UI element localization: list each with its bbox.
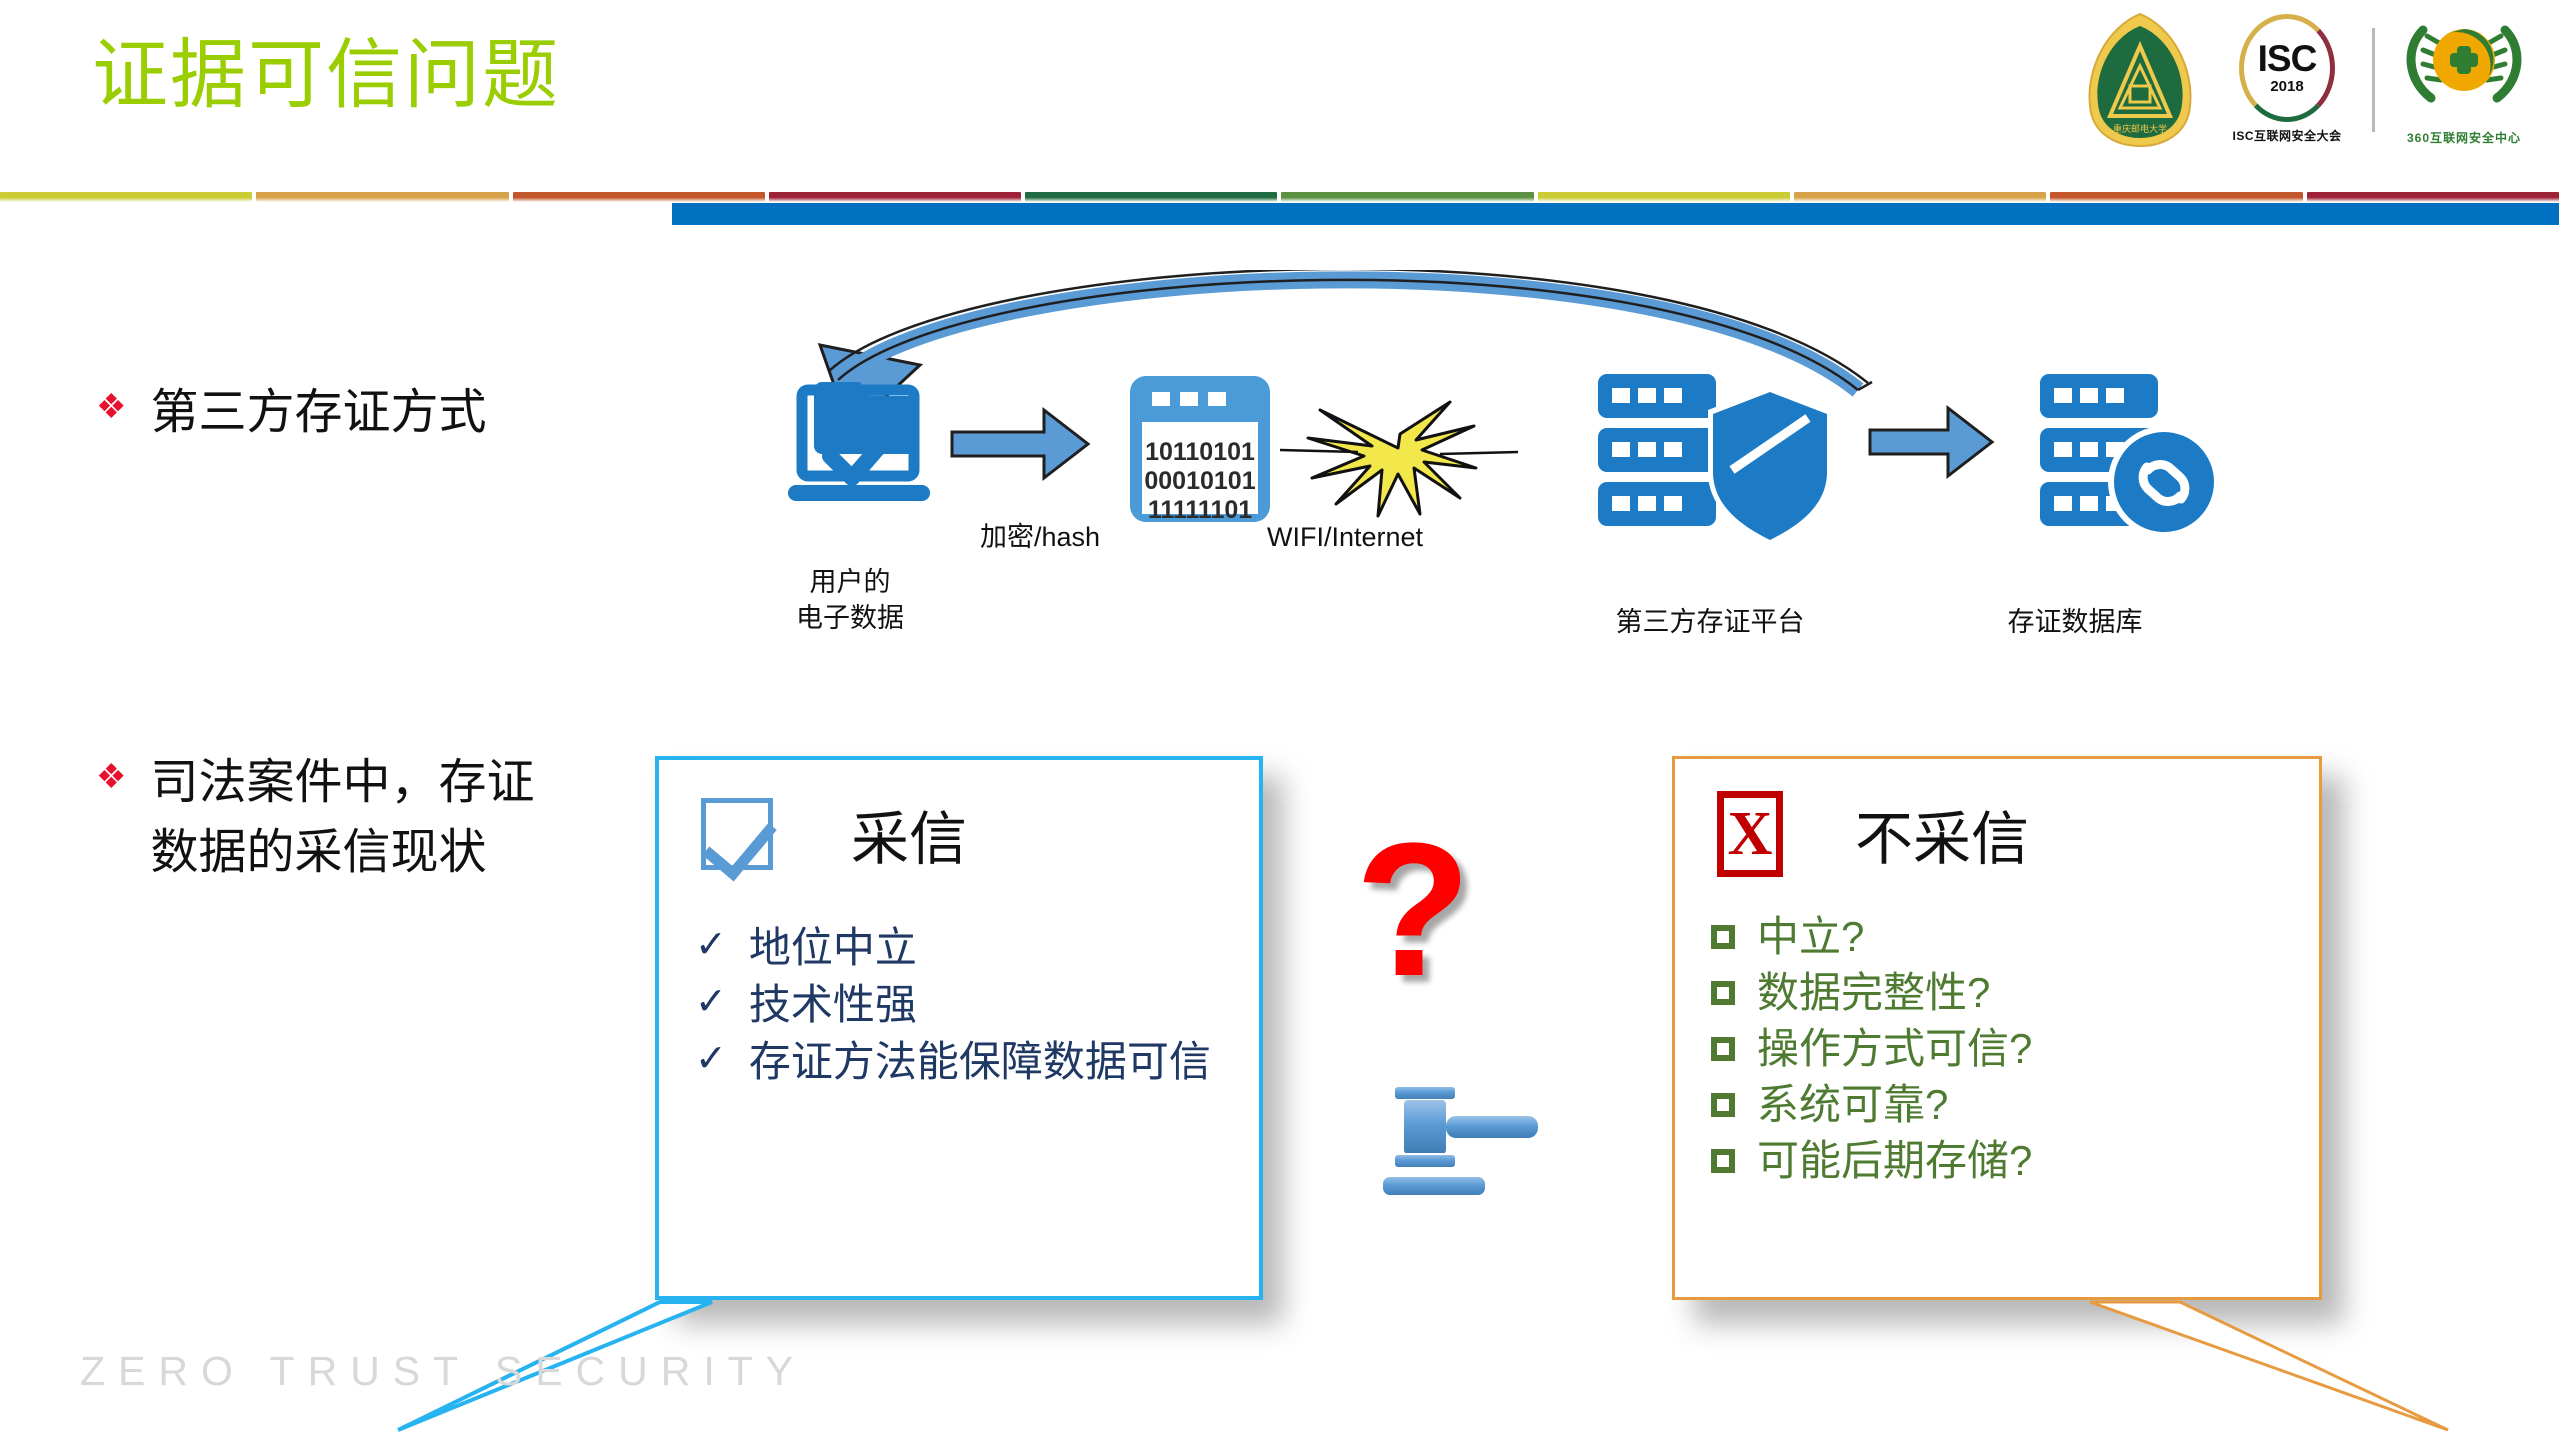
svg-text:重庆邮电大学: 重庆邮电大学 [2113, 123, 2167, 134]
list-item-label: 系统可靠? [1757, 1079, 1948, 1131]
header-color-rule [0, 192, 2559, 202]
list-item: 可能后期存储? [1711, 1135, 2319, 1187]
list-item-label: 数据完整性? [1757, 967, 1990, 1019]
rule-segment-2 [513, 192, 765, 202]
rule-segment-5 [1281, 192, 1533, 202]
isc-oval-ring: ISC 2018 [2239, 14, 2335, 122]
isc-logo-caption: ISC互联网安全大会 [2216, 127, 2358, 144]
list-item: 系统可靠? [1711, 1079, 2319, 1131]
rejected-bubble-header: X 不采信 [1675, 759, 2319, 877]
bullet-item-third-party: ❖ 第三方存证方式 [96, 378, 487, 448]
network-burst-icon [1280, 402, 1518, 516]
check-box-icon [701, 798, 773, 870]
bullet-label: 第三方存证方式 [150, 378, 486, 448]
accepted-criteria-list: ✓ 地位中立 ✓ 技术性强 ✓ 存证方法能保障数据可信 [659, 876, 1259, 1089]
cqupt-shield-logo: 重庆邮电大学 [2078, 10, 2202, 150]
flow-label-user-data: 用户的 电子数据 [755, 565, 945, 636]
list-item-label: 可能后期存储? [1757, 1135, 2032, 1187]
logo-group: 重庆邮电大学 ISC 2018 ISC互联网安全大会 360互联网安全中心 [2078, 10, 2539, 150]
list-item-label: 中立? [1757, 911, 1864, 963]
question-mark-icon: ? [1355, 815, 1471, 1005]
rule-segment-4 [1025, 192, 1277, 202]
bullet-item-judicial-status: ❖ 司法案件中，存证 数据的采信现状 [96, 748, 656, 887]
isc-logo-year: 2018 [2270, 78, 2303, 95]
footer-watermark: ZERO TRUST SECURITY [80, 1348, 806, 1395]
evidence-flow-diagram: 10110101 00010101 11111101 用户的 电子数据 加密/h… [760, 270, 2460, 670]
list-item-label: 技术性强 [749, 979, 917, 1032]
logo-divider [2372, 28, 2375, 132]
accepted-title: 采信 [851, 792, 967, 876]
isc-logo: ISC 2018 ISC互联网安全大会 [2216, 10, 2358, 150]
rejected-doubts-list: 中立? 数据完整性? 操作方式可信? 系统可靠? 可能后期存储? [1675, 877, 2319, 1187]
header-blue-bar [672, 203, 2559, 225]
rule-segment-9 [2307, 192, 2559, 202]
diamond-bullet-icon: ❖ [96, 390, 126, 424]
slide-root: 证据可信问题 重庆邮电大学 ISC 2018 ISC互联网安全大会 [0, 0, 2559, 1439]
check-mark-icon: ✓ [695, 1036, 727, 1084]
accepted-bubble-header: 采信 [659, 760, 1259, 876]
360-logo-caption: 360互联网安全中心 [2389, 129, 2539, 146]
page-title: 证据可信问题 [92, 38, 560, 114]
360-security-center-logo: 360互联网安全中心 [2389, 10, 2539, 150]
x-box-icon: X [1717, 791, 1783, 877]
rejected-bubble-tail [1980, 1290, 2500, 1440]
rule-segment-3 [769, 192, 1021, 202]
list-item: ✓ 技术性强 [695, 979, 1259, 1032]
gavel-icon [1372, 1080, 1562, 1210]
list-item-label: 操作方式可信? [1757, 1023, 2032, 1075]
square-bullet-icon [1711, 925, 1735, 949]
list-item: 操作方式可信? [1711, 1023, 2319, 1075]
list-item-label: 存证方法能保障数据可信 [749, 1036, 1211, 1089]
encrypt-arrow-icon [952, 410, 1088, 478]
rejected-title: 不采信 [1855, 792, 2029, 876]
user-data-icon [788, 382, 930, 501]
check-mark-icon: ✓ [695, 979, 727, 1027]
square-bullet-icon [1711, 1037, 1735, 1061]
flow-label-encrypt: 加密/hash [935, 520, 1145, 556]
check-mark-icon: ✓ [695, 922, 727, 970]
binary-text: 10110101 00010101 11111101 [1138, 438, 1262, 525]
list-item: ✓ 地位中立 [695, 922, 1259, 975]
flow-label-database: 存证数据库 [1890, 605, 2260, 641]
accepted-evidence-bubble: 采信 ✓ 地位中立 ✓ 技术性强 ✓ 存证方法能保障数据可信 [655, 756, 1263, 1300]
square-bullet-icon [1711, 981, 1735, 1005]
list-item-label: 地位中立 [749, 922, 917, 975]
flow-label-platform: 第三方存证平台 [1510, 605, 1910, 641]
list-item: 数据完整性? [1711, 967, 2319, 1019]
rejected-evidence-bubble: X 不采信 中立? 数据完整性? 操作方式可信? 系统可靠? 可能后期存 [1672, 756, 2322, 1300]
store-arrow-icon [1870, 408, 1992, 476]
flow-label-network: WIFI/Internet [1135, 520, 1555, 556]
rule-segment-1 [256, 192, 508, 202]
rule-segment-7 [1794, 192, 2046, 202]
rule-segment-6 [1538, 192, 1790, 202]
isc-logo-text: ISC [2258, 41, 2317, 76]
diamond-bullet-icon: ❖ [96, 760, 126, 794]
bullet-label: 司法案件中，存证 数据的采信现状 [150, 748, 534, 887]
square-bullet-icon [1711, 1093, 1735, 1117]
third-party-platform-icon [1598, 374, 1832, 546]
rule-segment-8 [2050, 192, 2302, 202]
rule-segment-0 [0, 192, 252, 202]
list-item: ✓ 存证方法能保障数据可信 [695, 1036, 1259, 1089]
evidence-database-icon [2040, 374, 2220, 538]
list-item: 中立? [1711, 911, 2319, 963]
square-bullet-icon [1711, 1149, 1735, 1173]
